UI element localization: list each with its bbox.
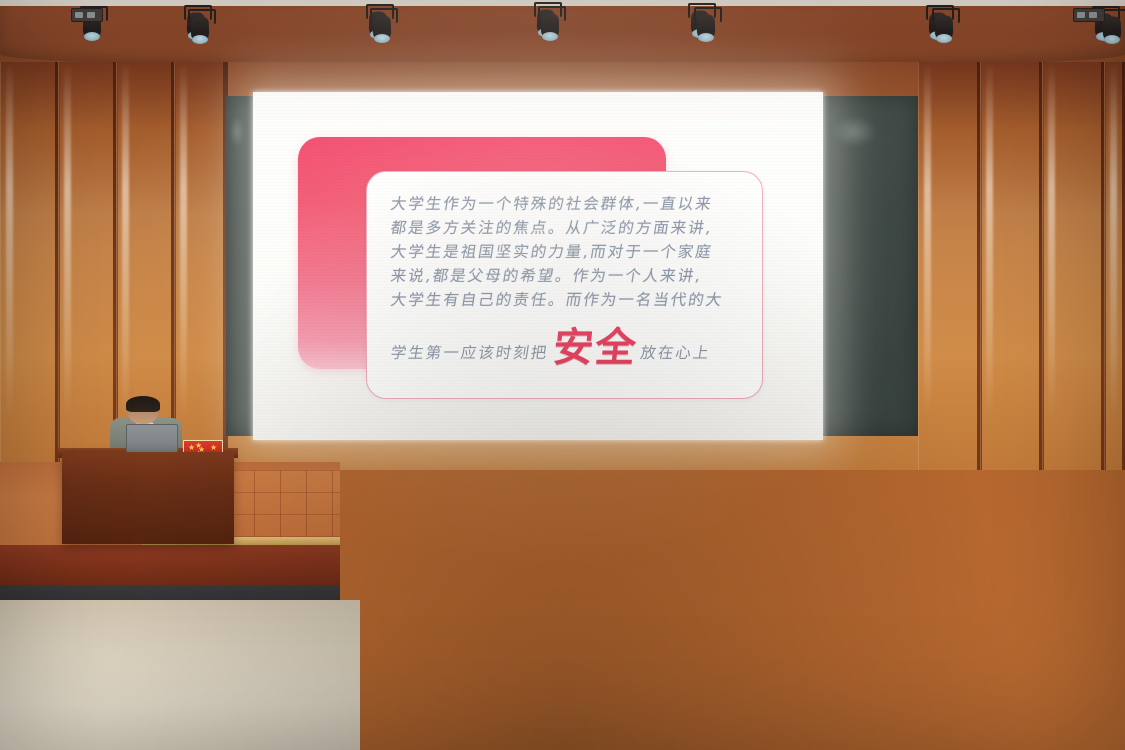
slide-highlight-safety: 安全 xyxy=(551,328,639,368)
slide-text-line-3: 大学生是祖国坚实的力量,而对于一个家庭 xyxy=(389,240,749,262)
dark-panel-right xyxy=(820,96,918,436)
slide-text-line-4: 来说,都是父母的希望。作为一个人来讲, xyxy=(389,264,749,286)
slide-last-prefix: 学生第一应该时刻把 xyxy=(389,341,550,363)
ceiling-speaker-box-icon xyxy=(71,8,103,22)
ceiling-spotlight-icon xyxy=(693,7,719,47)
slide-text-line-2: 都是多方关注的焦点。从广泛的方面来讲, xyxy=(389,216,749,238)
slide-text-line-5: 大学生有自己的责任。而作为一名当代的大 xyxy=(389,288,749,310)
wall-slat-sheen xyxy=(1110,62,1117,482)
slide-text-line-1: 大学生作为一个特殊的社会群体,一直以来 xyxy=(389,192,749,214)
wall-slat-sheen xyxy=(924,62,931,482)
audience-crowd: HEF xyxy=(0,470,1125,750)
flag-star-icon: ★ xyxy=(210,444,217,452)
speaker-hair xyxy=(126,396,160,412)
slide-last-suffix: 放在心上 xyxy=(639,341,713,363)
slide-text-last-line: 学生第一应该时刻把 安全 放在心上 xyxy=(388,330,756,374)
wall-slat-sheen xyxy=(1048,62,1055,482)
slide-white-card: 大学生作为一个特殊的社会群体,一直以来 都是多方关注的焦点。从广泛的方面来讲, … xyxy=(366,171,763,399)
ceiling-spotlight-icon xyxy=(537,6,563,46)
auditorium-photo: 大学生作为一个特殊的社会群体,一直以来 都是多方关注的焦点。从广泛的方面来讲, … xyxy=(0,0,1125,750)
ceiling-spotlight-icon xyxy=(369,8,395,48)
ceiling-spotlight-icon xyxy=(931,8,957,48)
wall-slat-sheen xyxy=(986,62,993,482)
wall-slat-sheen xyxy=(6,62,13,482)
wall-slat-sheen xyxy=(180,62,187,482)
projection-screen: 大学生作为一个特殊的社会群体,一直以来 都是多方关注的焦点。从广泛的方面来讲, … xyxy=(253,92,823,440)
ceiling-speaker-box-icon xyxy=(1073,8,1105,22)
wall-slat-sheen xyxy=(64,62,71,482)
ceiling-spotlight-icon xyxy=(187,9,213,49)
